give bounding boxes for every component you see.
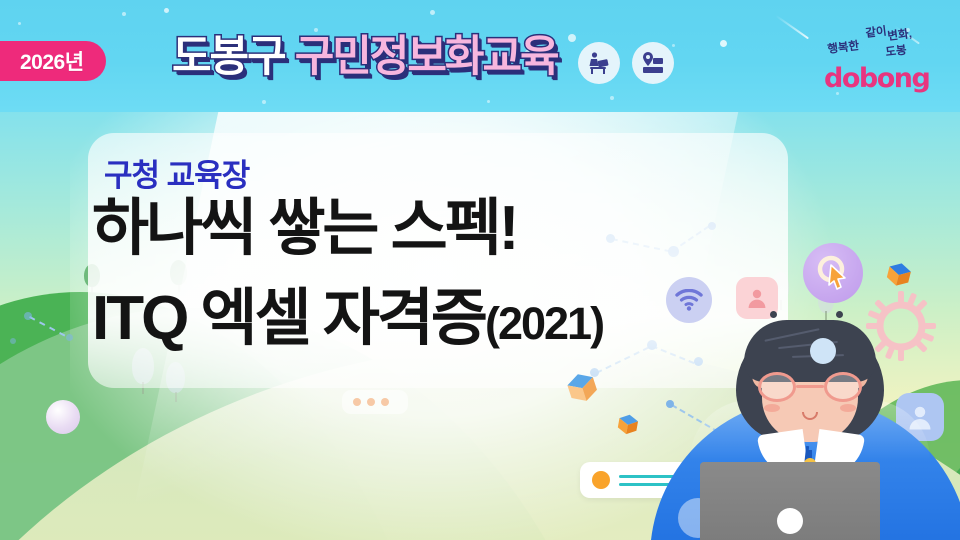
sparkle xyxy=(164,8,169,13)
laptop-logo xyxy=(777,508,803,534)
year-badge-label: 2026년 xyxy=(20,46,84,76)
person-at-desk-icon xyxy=(578,42,620,84)
banner-header: 2026년 도봉구 구민정보화교육 xyxy=(0,0,960,112)
headline-line-1: 하나씩 쌓는 스펙! xyxy=(92,198,516,260)
headline-course-name: ITQ 엑셀 자격증 xyxy=(92,284,485,353)
info-card-dot xyxy=(592,471,610,489)
sparkle xyxy=(610,96,614,100)
bubble-decoration xyxy=(810,338,836,364)
character-blush-left xyxy=(764,404,780,412)
dobong-wordmark: dobong xyxy=(824,63,929,94)
dobong-logo: 같이 변화, 행복한 도봉 dobong xyxy=(824,24,942,92)
sparkle xyxy=(18,22,21,25)
sparkle xyxy=(720,40,727,47)
svg-text:행복한: 행복한 xyxy=(827,38,861,56)
character-glasses xyxy=(756,372,864,402)
svg-text:같이: 같이 xyxy=(865,24,888,40)
character-eye-right xyxy=(836,311,843,318)
header-title-program: 구민정보화교육 xyxy=(295,36,558,79)
header-title-district: 도봉구 xyxy=(172,36,285,79)
cube-icon xyxy=(885,260,913,293)
cursor-click-icon xyxy=(803,243,863,303)
sphere-decoration xyxy=(46,400,80,434)
headline-course-year: (2021) xyxy=(485,298,603,349)
shooting-star xyxy=(775,15,809,40)
sparkle xyxy=(430,10,435,15)
sparkle xyxy=(487,100,490,103)
header-title: 도봉구 구민정보화교육 xyxy=(172,28,558,86)
laptop-icon xyxy=(700,462,880,540)
character-eye-left xyxy=(770,311,777,318)
cube-icon xyxy=(616,412,640,441)
sparkle xyxy=(568,34,576,42)
dobong-slogan: 같이 변화, 행복한 도봉 xyxy=(824,24,936,58)
character-illustration xyxy=(660,300,960,540)
svg-text:변화,: 변화, xyxy=(887,26,913,43)
svg-text:도봉: 도봉 xyxy=(885,43,908,58)
year-badge: 2026년 xyxy=(0,41,106,81)
banner-stage: 구청 교육장 하나씩 쌓는 스펙! ITQ 엑셀 자격증(2021) xyxy=(0,0,960,540)
sparkle xyxy=(262,100,266,104)
chat-bubble-icon xyxy=(342,390,408,414)
sparkle xyxy=(122,12,126,16)
panel-subtitle: 구청 교육장 xyxy=(104,150,249,195)
cube-icon xyxy=(565,370,599,409)
character-blush-right xyxy=(840,404,856,412)
headline-line-2: ITQ 엑셀 자격증(2021) xyxy=(92,288,603,350)
header-icon-group xyxy=(578,42,674,84)
location-building-icon xyxy=(632,42,674,84)
